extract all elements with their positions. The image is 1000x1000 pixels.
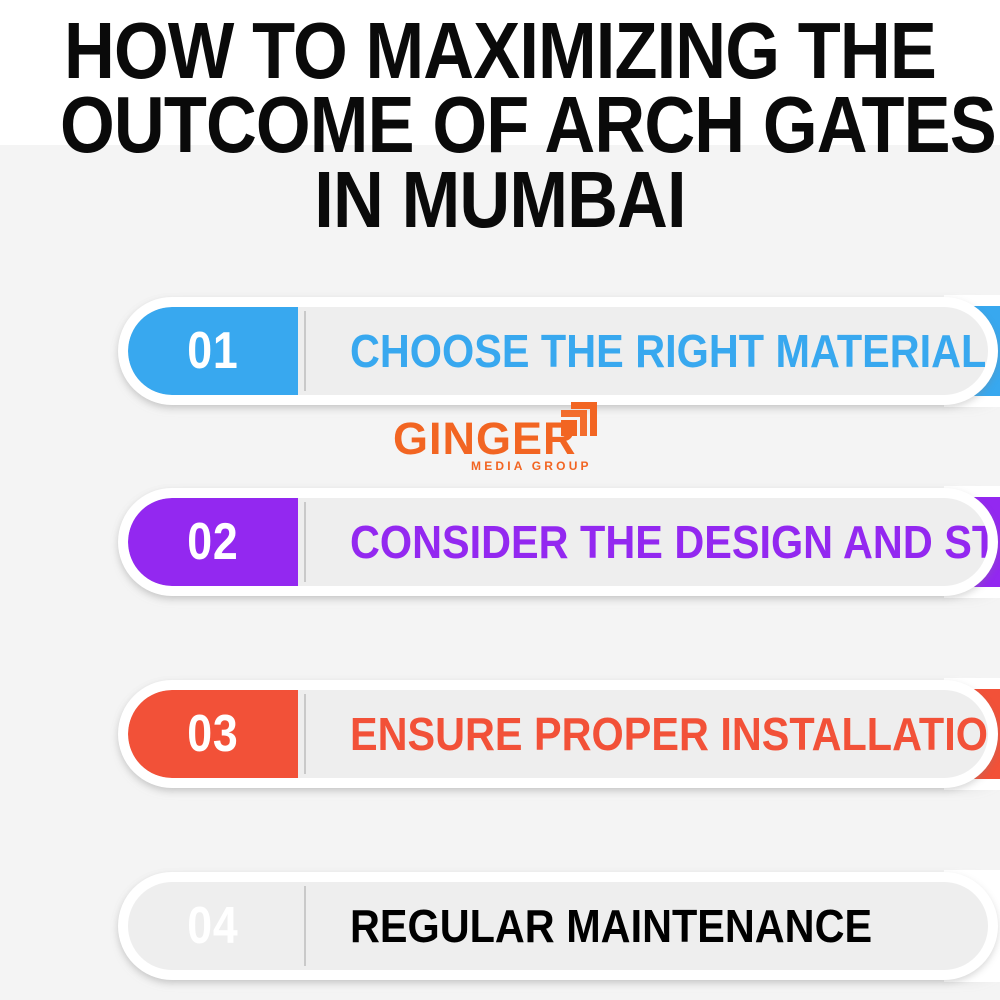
step-label: REGULAR MAINTENANCE xyxy=(350,882,872,970)
step-number-text: 03 xyxy=(187,708,238,760)
brand-logo: GINGER MEDIA GROUP xyxy=(393,400,623,478)
step-label: CONSIDER THE DESIGN AND STYLE xyxy=(350,498,988,586)
step-number-badge: 01 xyxy=(128,307,298,395)
step-number-badge: 02 xyxy=(128,498,298,586)
infographic-canvas: HOW TO MAXIMIZING THE OUTCOME OF ARCH GA… xyxy=(0,0,1000,1000)
title-line-2: OUTCOME OF ARCH GATES xyxy=(60,88,940,162)
step-number-text: 02 xyxy=(187,516,238,568)
step-number-badge: 03 xyxy=(128,690,298,778)
step-divider xyxy=(304,886,306,966)
step-number-text: 01 xyxy=(187,325,238,377)
step-row-03[interactable]: 03 ENSURE PROPER INSTALLATION xyxy=(118,680,1000,788)
step-pill-inner: 01 CHOOSE THE RIGHT MATERIAL xyxy=(128,307,988,395)
title-line-3: IN MUMBAI xyxy=(60,163,940,237)
step-pill-inner: 04 REGULAR MAINTENANCE xyxy=(128,882,988,970)
step-pill: 04 REGULAR MAINTENANCE xyxy=(118,872,998,980)
step-pill-inner: 02 CONSIDER THE DESIGN AND STYLE xyxy=(128,498,988,586)
step-divider xyxy=(304,694,306,774)
step-row-02[interactable]: 02 CONSIDER THE DESIGN AND STYLE xyxy=(118,488,1000,596)
brand-tagline: MEDIA GROUP xyxy=(471,460,592,472)
step-divider xyxy=(304,502,306,582)
step-label: CHOOSE THE RIGHT MATERIAL xyxy=(350,307,986,395)
step-pill-inner: 03 ENSURE PROPER INSTALLATION xyxy=(128,690,988,778)
step-pill: 03 ENSURE PROPER INSTALLATION xyxy=(118,680,998,788)
title-line-1: HOW TO MAXIMIZING THE xyxy=(60,14,940,88)
ascending-bars-icon xyxy=(559,400,605,442)
step-pill: 02 CONSIDER THE DESIGN AND STYLE xyxy=(118,488,998,596)
step-row-01[interactable]: 01 CHOOSE THE RIGHT MATERIAL xyxy=(118,297,1000,405)
step-number-badge: 04 xyxy=(128,882,298,970)
step-number-text: 04 xyxy=(187,900,238,952)
step-label: ENSURE PROPER INSTALLATION xyxy=(350,690,988,778)
step-pill: 01 CHOOSE THE RIGHT MATERIAL xyxy=(118,297,998,405)
step-row-04[interactable]: 04 REGULAR MAINTENANCE xyxy=(118,872,1000,980)
brand-name: GINGER xyxy=(393,416,577,461)
step-divider xyxy=(304,311,306,391)
page-title: HOW TO MAXIMIZING THE OUTCOME OF ARCH GA… xyxy=(0,14,1000,237)
